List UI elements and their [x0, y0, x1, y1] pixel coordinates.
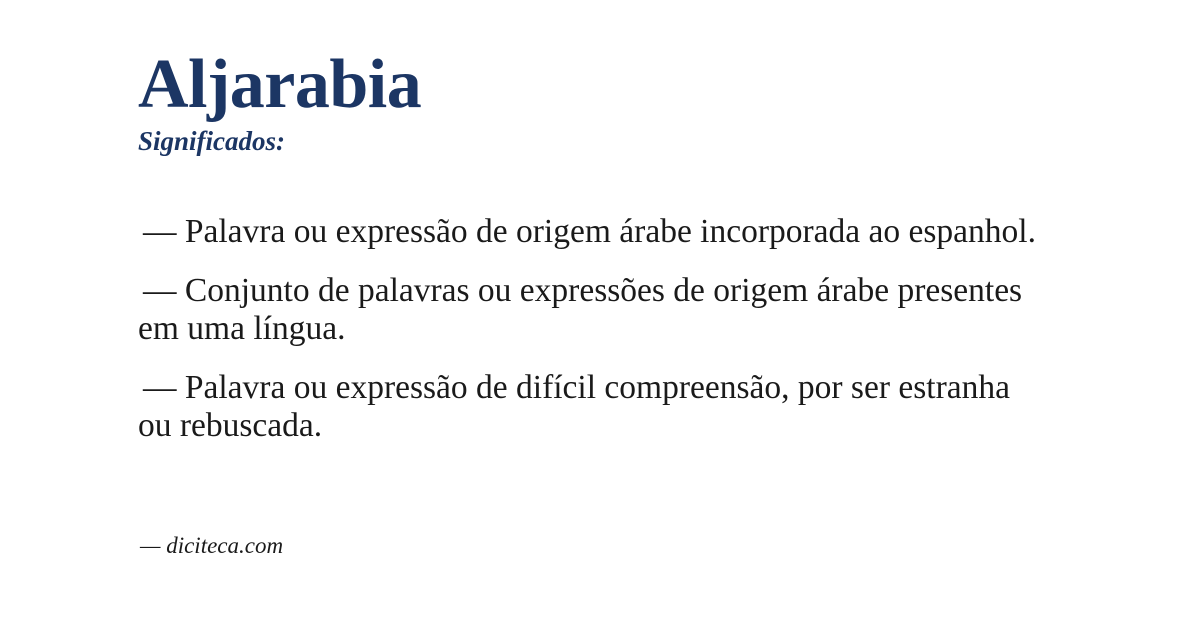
entry-content: Aljarabia Significados: — Palavra ou exp… — [138, 50, 1068, 444]
dictionary-entry-card: Aljarabia Significados: — Palavra ou exp… — [0, 0, 1200, 628]
definition-item: — Conjunto de palavras ou expressões de … — [138, 272, 1050, 347]
page-title: Aljarabia — [138, 50, 1068, 120]
definition-item: — Palavra ou expressão de difícil compre… — [138, 369, 1050, 444]
definition-item: — Palavra ou expressão de origem árabe i… — [138, 213, 1050, 251]
definition-list: — Palavra ou expressão de origem árabe i… — [138, 213, 1068, 445]
source-attribution: — diciteca.com — [140, 532, 283, 560]
entry-subtitle: Significados: — [138, 127, 1068, 157]
